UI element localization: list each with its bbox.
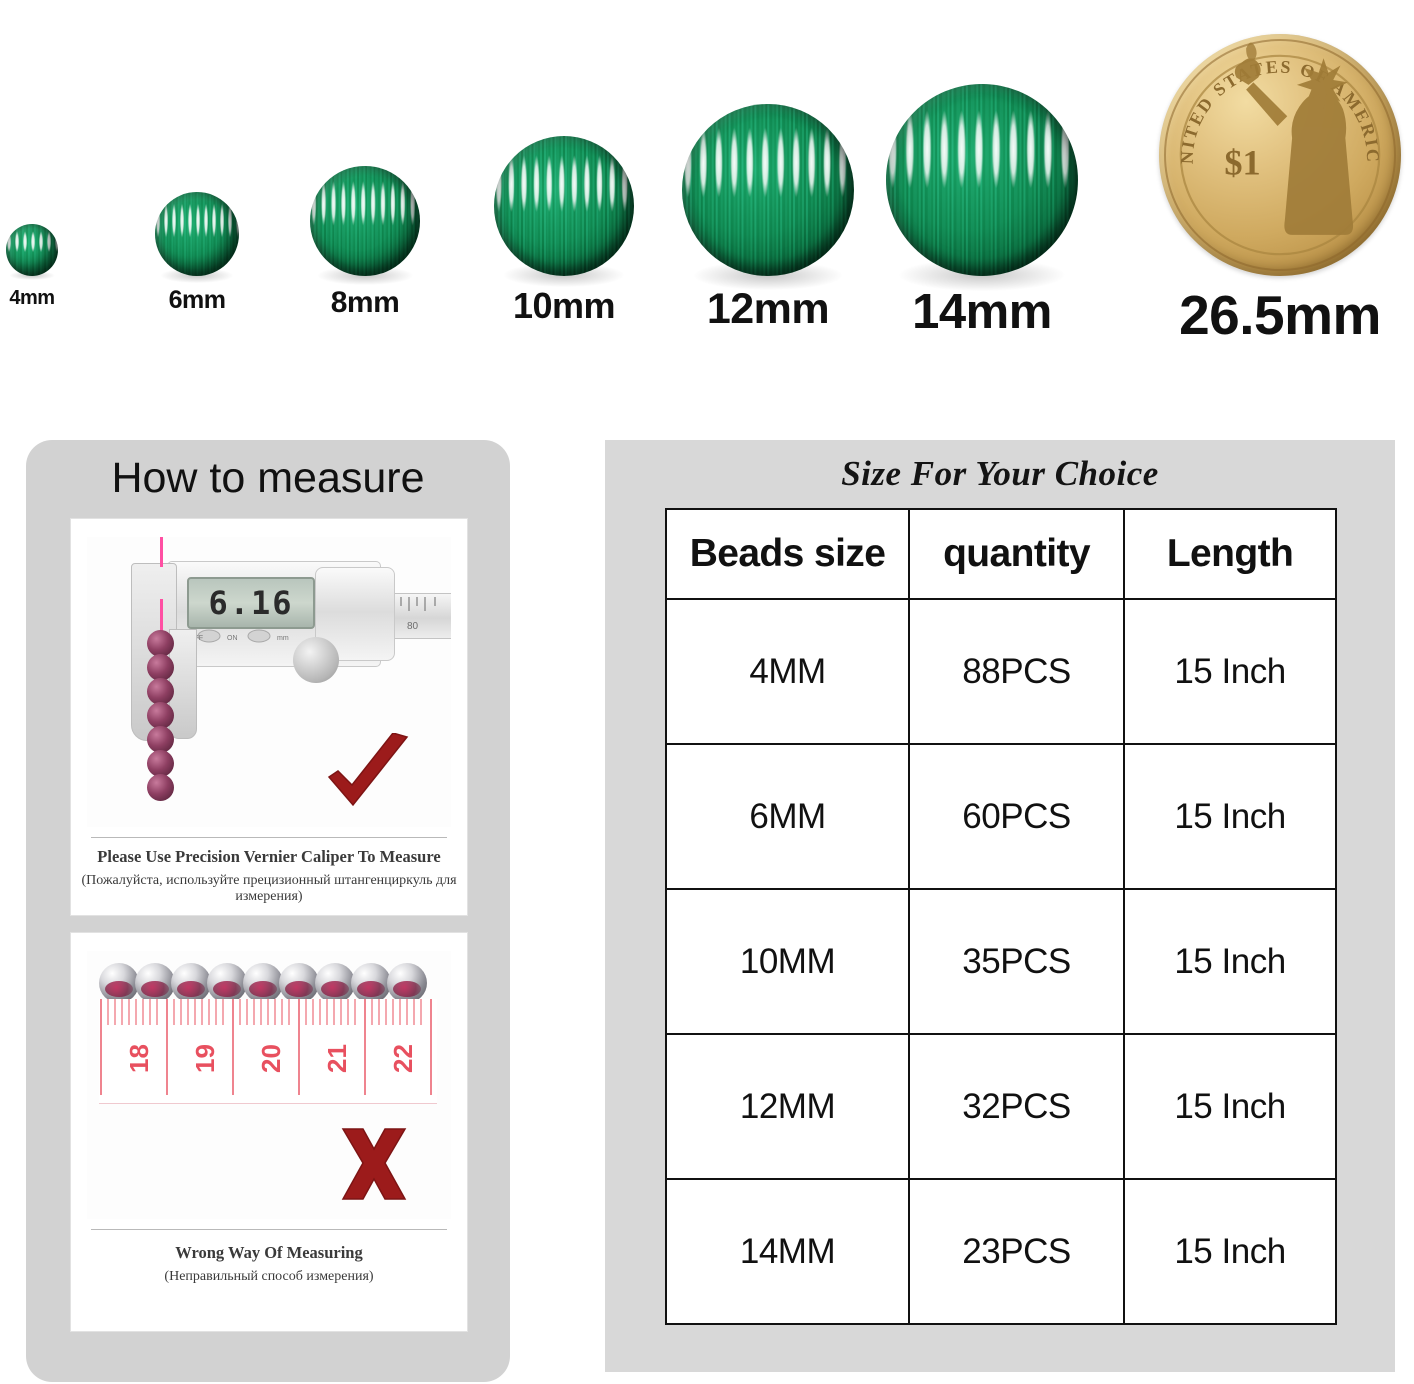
- bead-size-item-8mm: [310, 166, 420, 276]
- ruler-number-21: 21: [322, 1044, 353, 1073]
- bead-size-item-12mm: [682, 104, 854, 276]
- bead-size-label-4mm: 4mm: [9, 288, 54, 308]
- length-cell: 15 Inch: [1124, 744, 1336, 889]
- bead-size-cell: 14MM: [666, 1179, 909, 1324]
- table-row: 12MM32PCS15 Inch: [666, 1034, 1336, 1179]
- dollar-coin-icon: UNITED STATES OF AMERICA$1: [1159, 34, 1401, 276]
- size-table: Beads size quantity Length 4MM88PCS15 In…: [665, 508, 1337, 1325]
- bead-size-label-12mm: 12mm: [707, 288, 829, 331]
- steel-bead-strand: [99, 963, 427, 1003]
- bead-size-item-10mm: [494, 136, 634, 276]
- column-header-beads-size: Beads size: [666, 509, 909, 599]
- length-cell: 15 Inch: [1124, 1034, 1336, 1179]
- bead-size-label-14mm: 14mm: [912, 288, 1052, 337]
- malachite-bead-4mm: [6, 224, 58, 276]
- card-divider: [91, 1229, 447, 1230]
- measured-bead-strand: [147, 633, 174, 801]
- bead-size-label-10mm: 10mm: [513, 288, 615, 324]
- bead-size-comparison-row: 4mm6mm8mm10mm12mm14mmUNITED STATES OF AM…: [0, 0, 1414, 350]
- bead-size-cell: 12MM: [666, 1034, 909, 1179]
- quantity-cell: 35PCS: [909, 889, 1124, 1034]
- svg-text:mm: mm: [277, 635, 289, 642]
- how-to-measure-panel: How to measure 60 80: [26, 440, 510, 1382]
- bead-size-item-4mm: [6, 224, 58, 276]
- wrong-caption-en: Wrong Way Of Measuring: [71, 1243, 467, 1263]
- check-icon: [323, 733, 413, 815]
- bead-size-cell: 6MM: [666, 744, 909, 889]
- ruler-number-19: 19: [190, 1044, 221, 1073]
- malachite-bead-12mm: [682, 104, 854, 276]
- card-divider: [91, 837, 447, 838]
- size-table-panel: Size For Your Choice Beads size quantity…: [605, 440, 1395, 1372]
- svg-text:$1: $1: [1224, 142, 1260, 182]
- wrong-measure-card: 1819202122 Wrong Way Of Measuring (Непра…: [70, 932, 468, 1332]
- column-header-quantity: quantity: [909, 509, 1124, 599]
- correct-measure-card: 60 80 6.16 OFF ON mm: [70, 518, 468, 916]
- bead-size-label-6mm: 6mm: [169, 288, 226, 313]
- column-header-length: Length: [1124, 509, 1336, 599]
- correct-caption-en: Please Use Precision Vernier Caliper To …: [71, 847, 467, 867]
- caliper-lcd: 6.16: [187, 577, 315, 629]
- caliper-reading: 6.16: [208, 584, 293, 622]
- bead-size-item-26-5mm: UNITED STATES OF AMERICA$1: [1159, 34, 1401, 276]
- svg-text:UNITED STATES OF AMERICA: UNITED STATES OF AMERICA: [1159, 34, 1383, 164]
- bead-size-label-8mm: 8mm: [331, 288, 400, 318]
- malachite-bead-8mm: [310, 166, 420, 276]
- ruler-number-20: 20: [256, 1044, 287, 1073]
- table-row: 10MM35PCS15 Inch: [666, 889, 1336, 1034]
- bead-size-item-6mm: [155, 192, 239, 276]
- quantity-cell: 32PCS: [909, 1034, 1124, 1179]
- table-header-row: Beads size quantity Length: [666, 509, 1336, 599]
- correct-caption-ru: (Пожалуйста, используйте прецизионный шт…: [71, 873, 467, 905]
- measure-guide-line-top: [160, 537, 163, 567]
- quantity-cell: 88PCS: [909, 599, 1124, 744]
- bead-size-item-14mm: [886, 84, 1078, 276]
- ruler-number-18: 18: [124, 1044, 155, 1073]
- ruler-photo: 1819202122: [87, 951, 451, 1219]
- svg-text:ON: ON: [227, 635, 238, 642]
- wrong-caption-ru: (Неправильный способ измерения): [71, 1269, 467, 1285]
- length-cell: 15 Inch: [1124, 1179, 1336, 1324]
- caliper-buttons: OFF ON mm: [187, 627, 317, 645]
- bead-size-label-26-5mm: 26.5mm: [1179, 288, 1381, 343]
- bead-size-cell: 10MM: [666, 889, 909, 1034]
- svg-text:80: 80: [407, 621, 419, 632]
- x-icon: [335, 1127, 413, 1203]
- bead-size-cell: 4MM: [666, 599, 909, 744]
- caliper-photo: 60 80 6.16 OFF ON mm: [87, 537, 451, 827]
- how-to-measure-title: How to measure: [26, 454, 510, 503]
- malachite-bead-14mm: [886, 84, 1078, 276]
- caliper-lock-knob: [293, 637, 339, 683]
- length-cell: 15 Inch: [1124, 599, 1336, 744]
- table-row: 14MM23PCS15 Inch: [666, 1179, 1336, 1324]
- quantity-cell: 23PCS: [909, 1179, 1124, 1324]
- length-cell: 15 Inch: [1124, 889, 1336, 1034]
- table-row: 4MM88PCS15 Inch: [666, 599, 1336, 744]
- size-table-title: Size For Your Choice: [605, 454, 1395, 494]
- malachite-bead-10mm: [494, 136, 634, 276]
- table-row: 6MM60PCS15 Inch: [666, 744, 1336, 889]
- quantity-cell: 60PCS: [909, 744, 1124, 889]
- malachite-bead-6mm: [155, 192, 239, 276]
- ruler-number-22: 22: [388, 1044, 419, 1073]
